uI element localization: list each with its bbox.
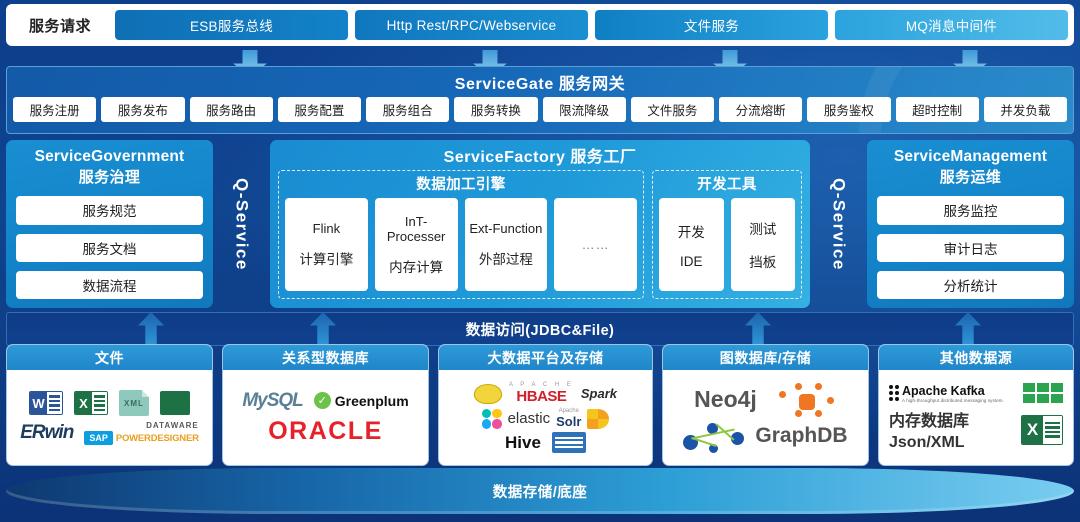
gate-chip-rate-limit[interactable]: 限流降级 xyxy=(543,97,626,122)
files-logo-row-1: W X XML xyxy=(29,390,190,416)
bigdata-logo-row-1: A P A C H E HBASE Spark xyxy=(474,382,617,405)
service-request-bar: 服务请求 ESB服务总线 Http Rest/RPC/Webservice 文件… xyxy=(6,4,1074,46)
source-card-files-body: W X XML ERwin DATAWARE SAP POWERDESIGNER xyxy=(7,370,212,465)
gate-chip-timeout-control[interactable]: 超时控制 xyxy=(896,97,979,122)
governance-item-data-flow[interactable]: 数据流程 xyxy=(16,271,203,299)
graphdb-logo-text: GraphDB xyxy=(755,424,847,448)
gate-chip-circuit-breaker[interactable]: 分流熔断 xyxy=(719,97,802,122)
request-button-mq[interactable]: MQ消息中间件 xyxy=(835,10,1068,40)
engine-box-ext-function-desc: 外部过程 xyxy=(479,248,533,268)
xml-file-icon: XML xyxy=(119,390,149,416)
erwin-logo: ERwin xyxy=(20,422,73,444)
hbase-logo-text: HBASE xyxy=(516,388,566,405)
word-icon: W xyxy=(29,391,63,415)
files-logo-row-2: ERwin DATAWARE SAP POWERDESIGNER xyxy=(20,421,199,445)
source-card-graphdb-title: 图数据库/存储 xyxy=(663,345,868,370)
q-service-text-left: Q-Service xyxy=(232,178,252,271)
solr-logo: Apache Solr xyxy=(556,408,581,429)
other-logo-row-2: 内存数据库 Json/XML X xyxy=(889,407,1063,452)
engine-box-flink[interactable]: Flink 计算引擎 xyxy=(285,198,368,291)
data-storage-base-label: 数据存储/底座 xyxy=(493,481,588,502)
engine-box-more-label: …… xyxy=(582,237,610,252)
source-card-bigdata: 大数据平台及存储 A P A C H E HBASE Spark elastic xyxy=(438,344,653,466)
tool-box-dev-ide[interactable]: 开发 IDE xyxy=(659,198,724,291)
orange-hub-icon xyxy=(775,383,837,417)
service-management-items: 服务监控 审计日志 分析统计 xyxy=(877,196,1064,299)
excel-icon: X xyxy=(74,391,108,415)
source-card-graphdb-body: Neo4j xyxy=(663,370,868,465)
service-government-items: 服务规范 服务文档 数据流程 xyxy=(16,196,203,299)
engine-box-int-processer-desc: 内存计算 xyxy=(389,256,443,276)
source-card-bigdata-body: A P A C H E HBASE Spark elastic Apache S… xyxy=(439,370,652,465)
source-card-other-title: 其他数据源 xyxy=(879,345,1073,370)
powerdesigner-logo-text: POWERDESIGNER xyxy=(116,433,199,444)
gate-chip-service-route[interactable]: 服务路由 xyxy=(190,97,273,122)
data-processing-engine-boxes: Flink 计算引擎 InT-Processer 内存计算 Ext-Functi… xyxy=(285,198,637,291)
green-table-icon xyxy=(1023,383,1063,403)
data-storage-base: 数据存储/底座 xyxy=(6,468,1074,514)
engine-box-flink-desc: 计算引擎 xyxy=(299,248,353,268)
diagram-canvas: 服务请求 ESB服务总线 Http Rest/RPC/Webservice 文件… xyxy=(0,0,1080,522)
source-card-graphdb: 图数据库/存储 Neo4j xyxy=(662,344,869,466)
tool-box-test-name: 测试 xyxy=(749,218,776,238)
graphdb-logo-row-2: GraphDB xyxy=(683,419,847,453)
gate-chip-service-transform[interactable]: 服务转换 xyxy=(454,97,537,122)
graph-node-network-icon xyxy=(683,419,745,453)
source-card-rdbms-body: MySQL Greenplum ORACLE xyxy=(223,370,428,465)
request-button-esb[interactable]: ESB服务总线 xyxy=(115,10,348,40)
tool-box-test-desc: 挡板 xyxy=(749,251,776,271)
service-government-title-cn: 服务治理 xyxy=(16,166,203,187)
sap-powerdesigner-logo: DATAWARE SAP POWERDESIGNER xyxy=(84,421,198,445)
request-button-file-service[interactable]: 文件服务 xyxy=(595,10,828,40)
service-management-title-cn: 服务运维 xyxy=(877,166,1064,187)
other-logo-row-1: Apache Kafka A high-throughput distribut… xyxy=(889,383,1063,403)
greenplum-check-icon xyxy=(314,392,331,409)
service-factory-body: 数据加工引擎 Flink 计算引擎 InT-Processer 内存计算 Ext… xyxy=(278,170,802,299)
service-government-title-en: ServiceGovernment xyxy=(16,148,203,165)
spark-logo: Spark xyxy=(581,386,617,401)
kafka-dots-icon xyxy=(889,385,899,401)
service-gate-chip-list: 服务注册 服务发布 服务路由 服务配置 服务组合 服务转换 限流降级 文件服务 … xyxy=(7,97,1073,122)
governance-item-service-doc[interactable]: 服务文档 xyxy=(16,234,203,262)
source-card-files-title: 文件 xyxy=(7,345,212,370)
management-item-analytics[interactable]: 分析统计 xyxy=(877,271,1064,299)
elastic-icon xyxy=(482,409,502,429)
solr-sunburst-icon xyxy=(587,409,609,429)
gate-chip-service-auth[interactable]: 服务鉴权 xyxy=(807,97,890,122)
gate-chip-service-config[interactable]: 服务配置 xyxy=(278,97,361,122)
data-processing-engine-title: 数据加工引擎 xyxy=(285,173,637,198)
hadoop-hive-icon xyxy=(474,384,502,404)
oracle-logo: ORACLE xyxy=(268,417,383,446)
elastic-logo-text: elastic xyxy=(508,410,551,427)
bigdata-logo-row-3: Hive xyxy=(505,432,586,453)
neo4j-logo-text: Neo4j xyxy=(694,386,757,413)
sap-logo-text: SAP xyxy=(84,431,113,445)
green-upload-icon xyxy=(160,391,190,415)
development-tool-boxes: 开发 IDE 测试 挡板 xyxy=(659,198,795,291)
gate-chip-service-compose[interactable]: 服务组合 xyxy=(366,97,449,122)
data-access-bar: 数据访问(JDBC&File) xyxy=(6,312,1074,346)
memory-db-label: 内存数据库 xyxy=(889,407,969,431)
tool-box-test-mock[interactable]: 测试 挡板 xyxy=(731,198,796,291)
graphdb-logo-row-1: Neo4j xyxy=(694,383,837,417)
management-item-service-monitor[interactable]: 服务监控 xyxy=(877,196,1064,224)
gate-chip-concurrency-load[interactable]: 并发负载 xyxy=(984,97,1067,122)
tool-box-dev-name: 开发 xyxy=(678,221,705,241)
kafka-tagline: A high-throughput distributed messaging … xyxy=(902,398,1004,403)
service-management-panel: ServiceManagement 服务运维 服务监控 审计日志 分析统计 xyxy=(867,140,1074,308)
engine-box-flink-name: Flink xyxy=(313,221,340,236)
source-card-rdbms: 关系型数据库 MySQL Greenplum ORACLE xyxy=(222,344,429,466)
source-card-rdbms-title: 关系型数据库 xyxy=(223,345,428,370)
source-card-bigdata-title: 大数据平台及存储 xyxy=(439,345,652,370)
json-xml-label: Json/XML xyxy=(889,434,969,452)
kafka-logo-text: Apache Kafka xyxy=(902,384,1004,398)
middle-row: ServiceGovernment 服务治理 服务规范 服务文档 数据流程 Q-… xyxy=(6,140,1074,308)
engine-box-more[interactable]: …… xyxy=(554,198,637,291)
greenplum-logo: Greenplum xyxy=(314,392,409,409)
service-factory-title: ServiceFactory 服务工厂 xyxy=(278,146,802,170)
service-management-title-en: ServiceManagement xyxy=(877,148,1064,165)
data-access-label: 数据访问(JDBC&File) xyxy=(466,319,615,340)
tool-box-dev-desc: IDE xyxy=(680,254,703,269)
service-government-panel: ServiceGovernment 服务治理 服务规范 服务文档 数据流程 xyxy=(6,140,213,308)
gate-chip-service-publish[interactable]: 服务发布 xyxy=(101,97,184,122)
greenplum-logo-text: Greenplum xyxy=(335,393,409,409)
source-card-other: 其他数据源 Apache Kafka A high-throughput dis… xyxy=(878,344,1074,466)
engine-box-int-processer-name: InT-Processer xyxy=(377,214,456,244)
rdbms-logo-row-2: ORACLE xyxy=(268,417,383,446)
request-button-http-rest[interactable]: Http Rest/RPC/Webservice xyxy=(355,10,588,40)
hbase-logo: A P A C H E HBASE xyxy=(509,382,574,405)
development-tool-title: 开发工具 xyxy=(659,173,795,198)
q-service-text-right: Q-Service xyxy=(829,178,849,271)
hive-doc-icon xyxy=(552,432,586,453)
engine-box-ext-function-name: Ext-Function xyxy=(469,221,542,236)
source-card-files: 文件 W X XML ERwin DATAWARE SAP POWERDESIG… xyxy=(6,344,213,466)
gate-chip-service-register[interactable]: 服务注册 xyxy=(13,97,96,122)
data-source-cards: 文件 W X XML ERwin DATAWARE SAP POWERDESIG… xyxy=(6,344,1074,466)
dataware-logo-text: DATAWARE xyxy=(146,421,199,430)
q-service-label-left: Q-Service xyxy=(213,140,270,308)
engine-box-ext-function[interactable]: Ext-Function 外部过程 xyxy=(465,198,548,291)
governance-item-service-spec[interactable]: 服务规范 xyxy=(16,196,203,224)
solr-logo-text: Solr xyxy=(556,414,581,429)
bigdata-logo-row-2: elastic Apache Solr xyxy=(482,408,610,429)
service-request-label: 服务请求 xyxy=(12,15,108,36)
q-service-label-right: Q-Service xyxy=(810,140,867,308)
engine-box-int-processer[interactable]: InT-Processer 内存计算 xyxy=(375,198,458,291)
service-factory-panel: ServiceFactory 服务工厂 数据加工引擎 Flink 计算引擎 In… xyxy=(270,140,810,308)
excel-icon: X xyxy=(1021,415,1063,445)
hive-logo-text: Hive xyxy=(505,433,541,453)
source-card-other-body: Apache Kafka A high-throughput distribut… xyxy=(879,370,1073,465)
service-gate-panel: ServiceGate 服务网关 服务注册 服务发布 服务路由 服务配置 服务组… xyxy=(6,66,1074,134)
kafka-logo: Apache Kafka A high-throughput distribut… xyxy=(889,384,1004,403)
rdbms-logo-row-1: MySQL Greenplum xyxy=(242,390,408,412)
gate-chip-file-service[interactable]: 文件服务 xyxy=(631,97,714,122)
management-item-audit-log[interactable]: 审计日志 xyxy=(877,234,1064,262)
mysql-logo: MySQL xyxy=(242,390,302,412)
service-gate-title: ServiceGate 服务网关 xyxy=(7,67,1073,97)
data-processing-engine-group: 数据加工引擎 Flink 计算引擎 InT-Processer 内存计算 Ext… xyxy=(278,170,644,299)
development-tool-group: 开发工具 开发 IDE 测试 挡板 xyxy=(652,170,802,299)
